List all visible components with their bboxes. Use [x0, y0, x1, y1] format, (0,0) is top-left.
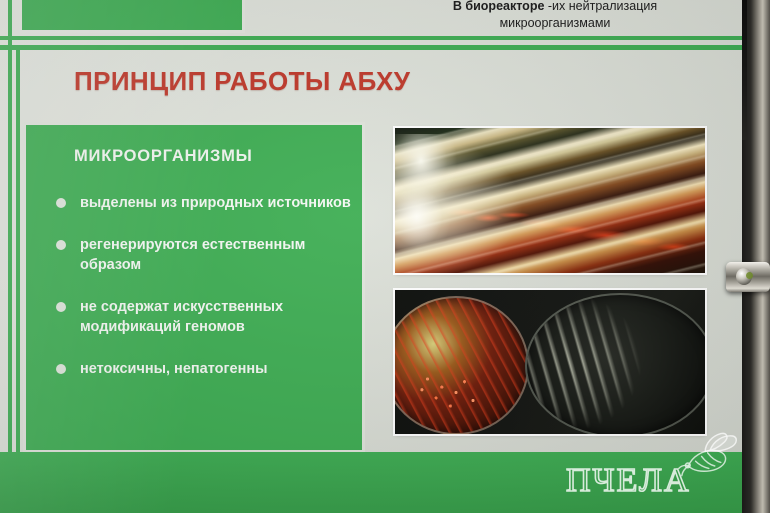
divider-vertical-inner: [16, 45, 20, 455]
clamp-green-dot-icon: [746, 272, 753, 279]
top-caption-bold-phrase: В биореакторе: [453, 0, 545, 13]
panel-heading: МИКРООРГАНИЗМЫ: [74, 147, 253, 166]
screenshot-root: деструкторов В биореакторе -их нейтрализ…: [0, 0, 770, 513]
bullet-dot-icon: [56, 302, 66, 312]
bullet-dot-icon: [56, 364, 66, 374]
list-item: нетоксичны, непатогенны: [48, 359, 352, 379]
photo-test-tubes-glass-caps: [395, 134, 469, 267]
top-caption-line-2: микроорганизмами: [390, 15, 720, 32]
top-right-caption: В биореакторе -их нейтрализация микроорг…: [390, 0, 720, 32]
bullet-list: выделены из природных источников регенер…: [48, 193, 352, 401]
bottom-green-band: [0, 452, 742, 513]
bullet-dot-icon: [56, 240, 66, 250]
list-item-label: регенерируются естественным образом: [80, 237, 305, 273]
page-title: ПРИНЦИП РАБОТЫ АБХУ: [74, 66, 410, 97]
list-item: не содержат искусственных модификаций ге…: [48, 297, 352, 337]
list-item-label: выделены из природных источников: [80, 195, 351, 211]
list-item: выделены из природных источников: [48, 193, 352, 213]
petri-dish-right-streaks: [527, 295, 705, 434]
top-caption-rest-phrase: -их нейтрализация: [544, 0, 657, 13]
petri-dish-left-colonies: [395, 298, 527, 433]
bullet-dot-icon: [56, 198, 66, 208]
divider-horizontal-upper: [0, 36, 742, 40]
divider-vertical-outer: [8, 0, 12, 455]
background-right-metal-post: [752, 0, 770, 513]
microorganisms-panel: МИКРООРГАНИЗМЫ выделены из природных ист…: [26, 125, 362, 450]
list-item-label: нетоксичны, непатогенны: [80, 361, 267, 377]
top-green-cell: деструкторов: [22, 0, 242, 30]
photo-petri-dishes: [395, 290, 705, 434]
list-item-label: не содержат искусственных модификаций ге…: [80, 299, 283, 335]
poster-board: деструкторов В биореакторе -их нейтрализ…: [0, 0, 742, 513]
photo-test-tubes: [395, 128, 705, 273]
list-item: регенерируются естественным образом: [48, 235, 352, 275]
petri-dish-right: [525, 293, 705, 434]
divider-horizontal-lower: [0, 45, 742, 50]
top-caption-line-1: В биореакторе -их нейтрализация: [390, 0, 720, 15]
